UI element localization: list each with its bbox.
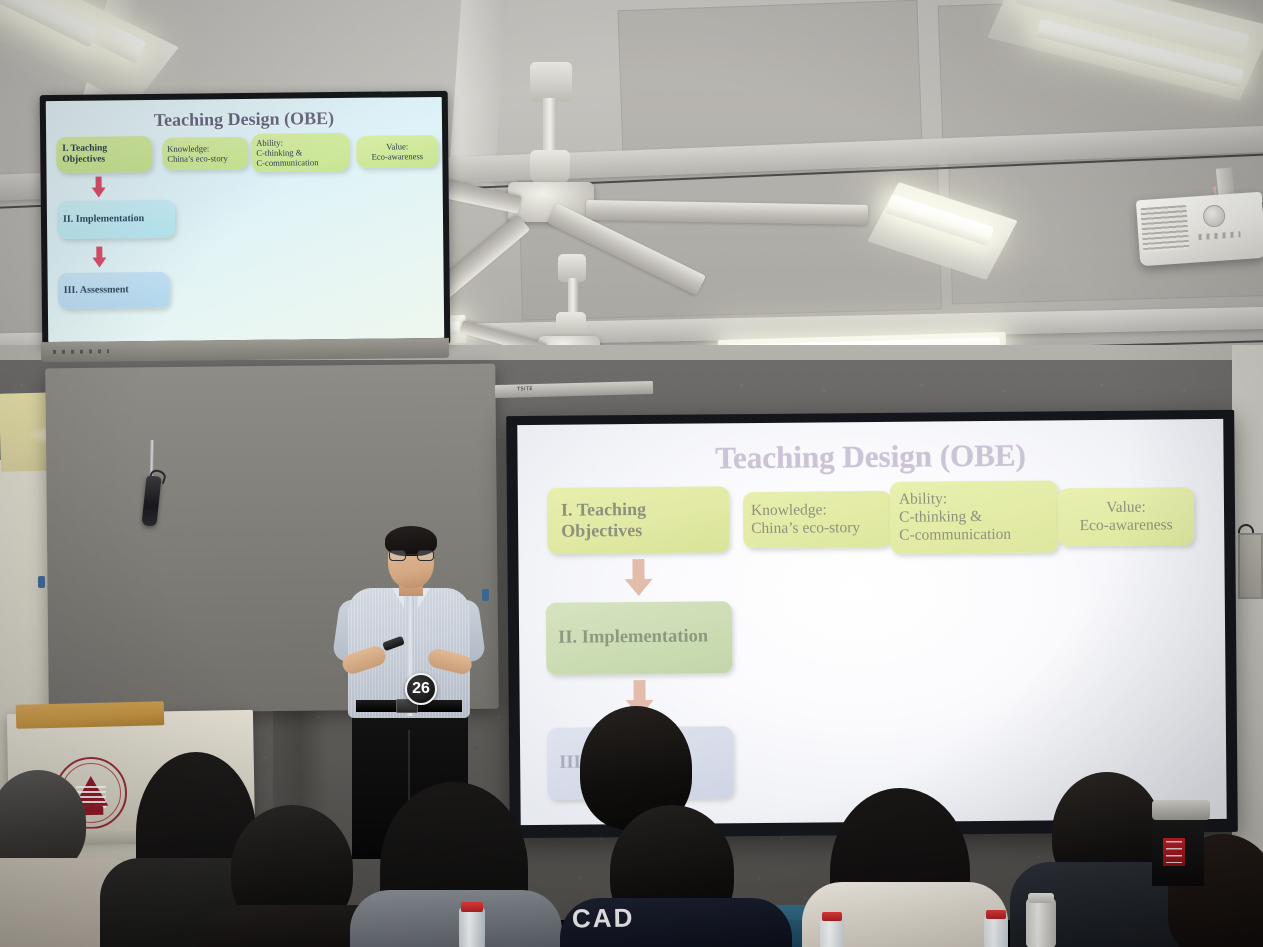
fan-housing bbox=[530, 150, 570, 184]
slide-box-objectives: I. TeachingObjectives bbox=[56, 136, 152, 173]
bottle-cap bbox=[822, 912, 842, 921]
box-line: I. Teaching bbox=[62, 143, 107, 153]
whiteboard-controls[interactable] bbox=[53, 349, 109, 354]
lectern-wooden-top bbox=[16, 701, 165, 729]
box-line: Value: bbox=[386, 141, 408, 151]
slide-title: Teaching Design (OBE) bbox=[46, 107, 442, 132]
thermos-bottle bbox=[1026, 898, 1056, 947]
box-line: Knowledge: bbox=[751, 501, 827, 519]
box-line: C-thinking & bbox=[899, 508, 982, 526]
rolled-item bbox=[1152, 800, 1210, 820]
slide-box-implementation: II. Implementation bbox=[546, 601, 733, 675]
red-warning-sign bbox=[1163, 838, 1185, 866]
glasses-lens-left bbox=[389, 550, 406, 561]
down-arrow-icon bbox=[91, 176, 107, 198]
box-line: Eco-awareness bbox=[1080, 516, 1173, 534]
water-bottle bbox=[459, 908, 485, 947]
box-line: C-communication bbox=[899, 526, 1011, 544]
slide-box-objectives: I. TeachingObjectives bbox=[547, 486, 730, 554]
slide-tv: Teaching Design (OBE) I. TeachingObjecti… bbox=[46, 97, 445, 342]
water-bottle bbox=[984, 916, 1008, 947]
presenter-number-badge: 26 bbox=[405, 673, 437, 705]
fan-mount bbox=[530, 62, 572, 102]
box-line: I. Teaching bbox=[561, 499, 646, 520]
projector-lens bbox=[1202, 204, 1225, 227]
ceiling-slab bbox=[617, 0, 922, 160]
box-line: China’s eco-story bbox=[751, 519, 860, 537]
box-line: III. Assessment bbox=[64, 284, 129, 296]
audience-shoulders bbox=[350, 890, 562, 947]
device-label: TSITE bbox=[517, 386, 533, 392]
bottle-cap bbox=[986, 910, 1006, 919]
box-line: Value: bbox=[1106, 498, 1146, 515]
down-arrow-icon bbox=[622, 559, 654, 597]
box-line: Objectives bbox=[62, 154, 105, 164]
whiteboard-side-button-right[interactable] bbox=[482, 589, 489, 601]
box-line: Ability: bbox=[256, 137, 283, 147]
box-line: II. Implementation bbox=[558, 627, 708, 650]
glasses-lens-right bbox=[417, 550, 434, 561]
down-arrow-icon bbox=[91, 246, 107, 268]
jacket-text: CAD bbox=[572, 902, 635, 934]
classroom-scene: 14:03:40 Teaching Design (OBE) I. Teachi… bbox=[0, 0, 1263, 947]
thermos-cap bbox=[1028, 893, 1054, 903]
slide-box-ability: Ability:C-thinking &C-communication bbox=[890, 480, 1059, 553]
box-line: Knowledge: bbox=[167, 143, 209, 153]
water-bottle bbox=[820, 918, 844, 947]
slide-box-implementation: II. Implementation bbox=[57, 200, 175, 239]
whiteboard-screen[interactable]: Teaching Design (OBE) I. TeachingObjecti… bbox=[46, 97, 445, 342]
whiteboard-bezel: Teaching Design (OBE) I. TeachingObjecti… bbox=[40, 91, 451, 348]
fan-housing bbox=[556, 312, 586, 338]
slide-box-value: Value:Eco-awareness bbox=[1058, 487, 1195, 546]
slide-box-knowledge: Knowledge:China’s eco-story bbox=[743, 491, 891, 548]
slide-box-value: Value:Eco-awareness bbox=[356, 135, 438, 168]
projector-vents bbox=[1140, 205, 1189, 252]
box-line: China’s eco-story bbox=[167, 153, 227, 164]
glasses-icon bbox=[389, 550, 434, 561]
box-line: II. Implementation bbox=[63, 213, 144, 226]
bottle-cap bbox=[461, 902, 483, 912]
ceiling-projector bbox=[1136, 192, 1263, 267]
wall-picture-frame bbox=[1238, 533, 1263, 599]
slide-box-knowledge: Knowledge:China’s eco-story bbox=[162, 137, 248, 170]
whiteboard-chin bbox=[41, 338, 449, 362]
box-line: Objectives bbox=[561, 520, 642, 541]
projector-buttons[interactable] bbox=[1198, 231, 1240, 240]
box-line: Ability: bbox=[899, 490, 947, 507]
glasses-bridge bbox=[406, 554, 417, 555]
box-line: Eco-awareness bbox=[372, 151, 424, 162]
box-line: C-thinking & bbox=[256, 147, 302, 157]
slide-title: Teaching Design (OBE) bbox=[517, 436, 1223, 478]
fan-rod bbox=[543, 98, 557, 154]
whiteboard-side-button-left[interactable] bbox=[38, 576, 45, 588]
sign-text-lines bbox=[1166, 841, 1182, 863]
slide-box-ability: Ability:C-thinking &C-communication bbox=[251, 133, 349, 172]
slide-box-assessment: III. Assessment bbox=[58, 272, 170, 309]
box-line: C-communication bbox=[256, 157, 318, 168]
fan-rod bbox=[568, 278, 578, 316]
